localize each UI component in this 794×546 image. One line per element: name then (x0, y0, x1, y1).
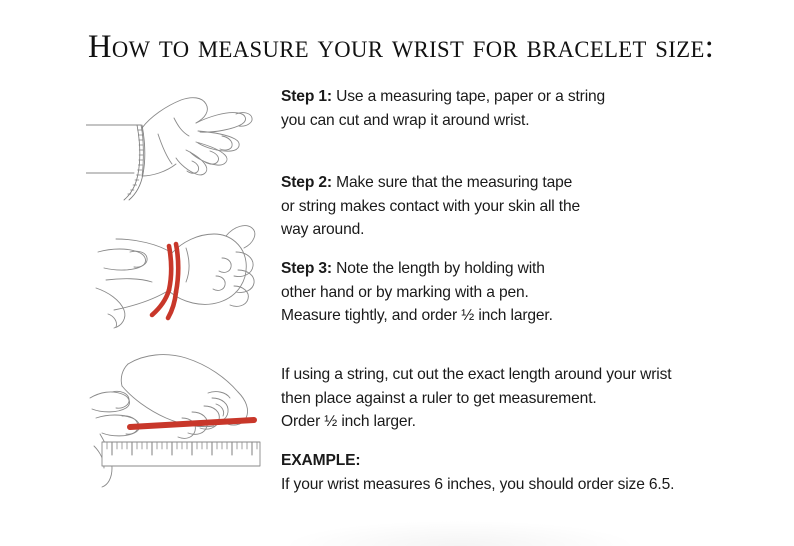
measuring-tape-icon (124, 125, 145, 200)
infographic-page: How to measure your wrist for bracelet s… (0, 0, 794, 546)
red-string-icon (130, 420, 254, 427)
step-2-label: Step 2: (281, 174, 332, 191)
step-2-paragraph: Step 2: Make sure that the measuring tap… (281, 171, 751, 242)
hand-outline-icon (86, 98, 252, 176)
string-method-line-2: then place against a ruler to get measur… (281, 387, 751, 411)
step-3-line-1: Note the length by holding with (332, 260, 545, 277)
example-label: EXAMPLE: (281, 452, 360, 469)
string-method-paragraph: If using a string, cut out the exact len… (281, 363, 751, 434)
illustration-wrist-with-red-string (86, 214, 272, 332)
step-1-label: Step 1: (281, 88, 332, 105)
step-1-line-2: you can cut and wrap it around wrist. (281, 109, 751, 133)
step-2-line-2: or string makes contact with your skin a… (281, 195, 751, 219)
left-hand-outline-icon (90, 391, 139, 487)
ruler-icon (102, 442, 260, 466)
step-3-line-3: Measure tightly, and order ½ inch larger… (281, 304, 751, 328)
instructions-column: Step 1: Use a measuring tape, paper or a… (281, 0, 751, 546)
illustration-string-against-ruler (86, 348, 278, 490)
red-string-icon (152, 244, 178, 318)
example-line-1: If your wrist measures 6 inches, you sho… (281, 473, 751, 497)
step-1-line-1: Use a measuring tape, paper or a string (332, 88, 605, 105)
step-3-line-2: other hand or by marking with a pen. (281, 281, 751, 305)
fist-and-wrist-outline-icon (96, 226, 255, 328)
string-method-line-3: Order ½ inch larger. (281, 410, 751, 434)
step-3-label: Step 3: (281, 260, 332, 277)
step-2-line-3: way around. (281, 218, 751, 242)
illustration-hand-with-measuring-tape (86, 84, 272, 202)
step-1-paragraph: Step 1: Use a measuring tape, paper or a… (281, 85, 751, 132)
string-method-line-1: If using a string, cut out the exact len… (281, 363, 751, 387)
step-2-line-1: Make sure that the measuring tape (332, 174, 572, 191)
step-3-paragraph: Step 3: Note the length by holding with … (281, 257, 751, 328)
example-paragraph: EXAMPLE: If your wrist measures 6 inches… (281, 449, 751, 496)
